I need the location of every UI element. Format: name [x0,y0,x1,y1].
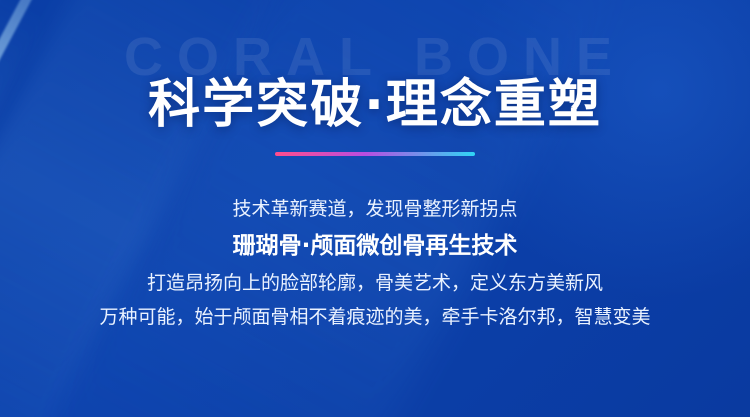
body-copy: 技术革新赛道，发现骨整形新拐点 珊瑚骨·颅面微创骨再生技术 打造昂扬向上的脸部轮… [0,192,750,334]
body-line-3: 打造昂扬向上的脸部轮廓，骨美艺术，定义东方美新风 [0,266,750,300]
body-line-2: 珊瑚骨·颅面微创骨再生技术 [0,226,750,266]
body-line-1: 技术革新赛道，发现骨整形新拐点 [0,192,750,226]
promo-banner: CORAL BONE 科学突破·理念重塑 技术革新赛道，发现骨整形新拐点 珊瑚骨… [0,0,750,417]
headline-title: 科学突破·理念重塑 [0,62,750,137]
gradient-divider [275,152,475,156]
body-line-4: 万种可能，始于颅面骨相不着痕迹的美，牵手卡洛尔邦，智慧变美 [0,300,750,334]
